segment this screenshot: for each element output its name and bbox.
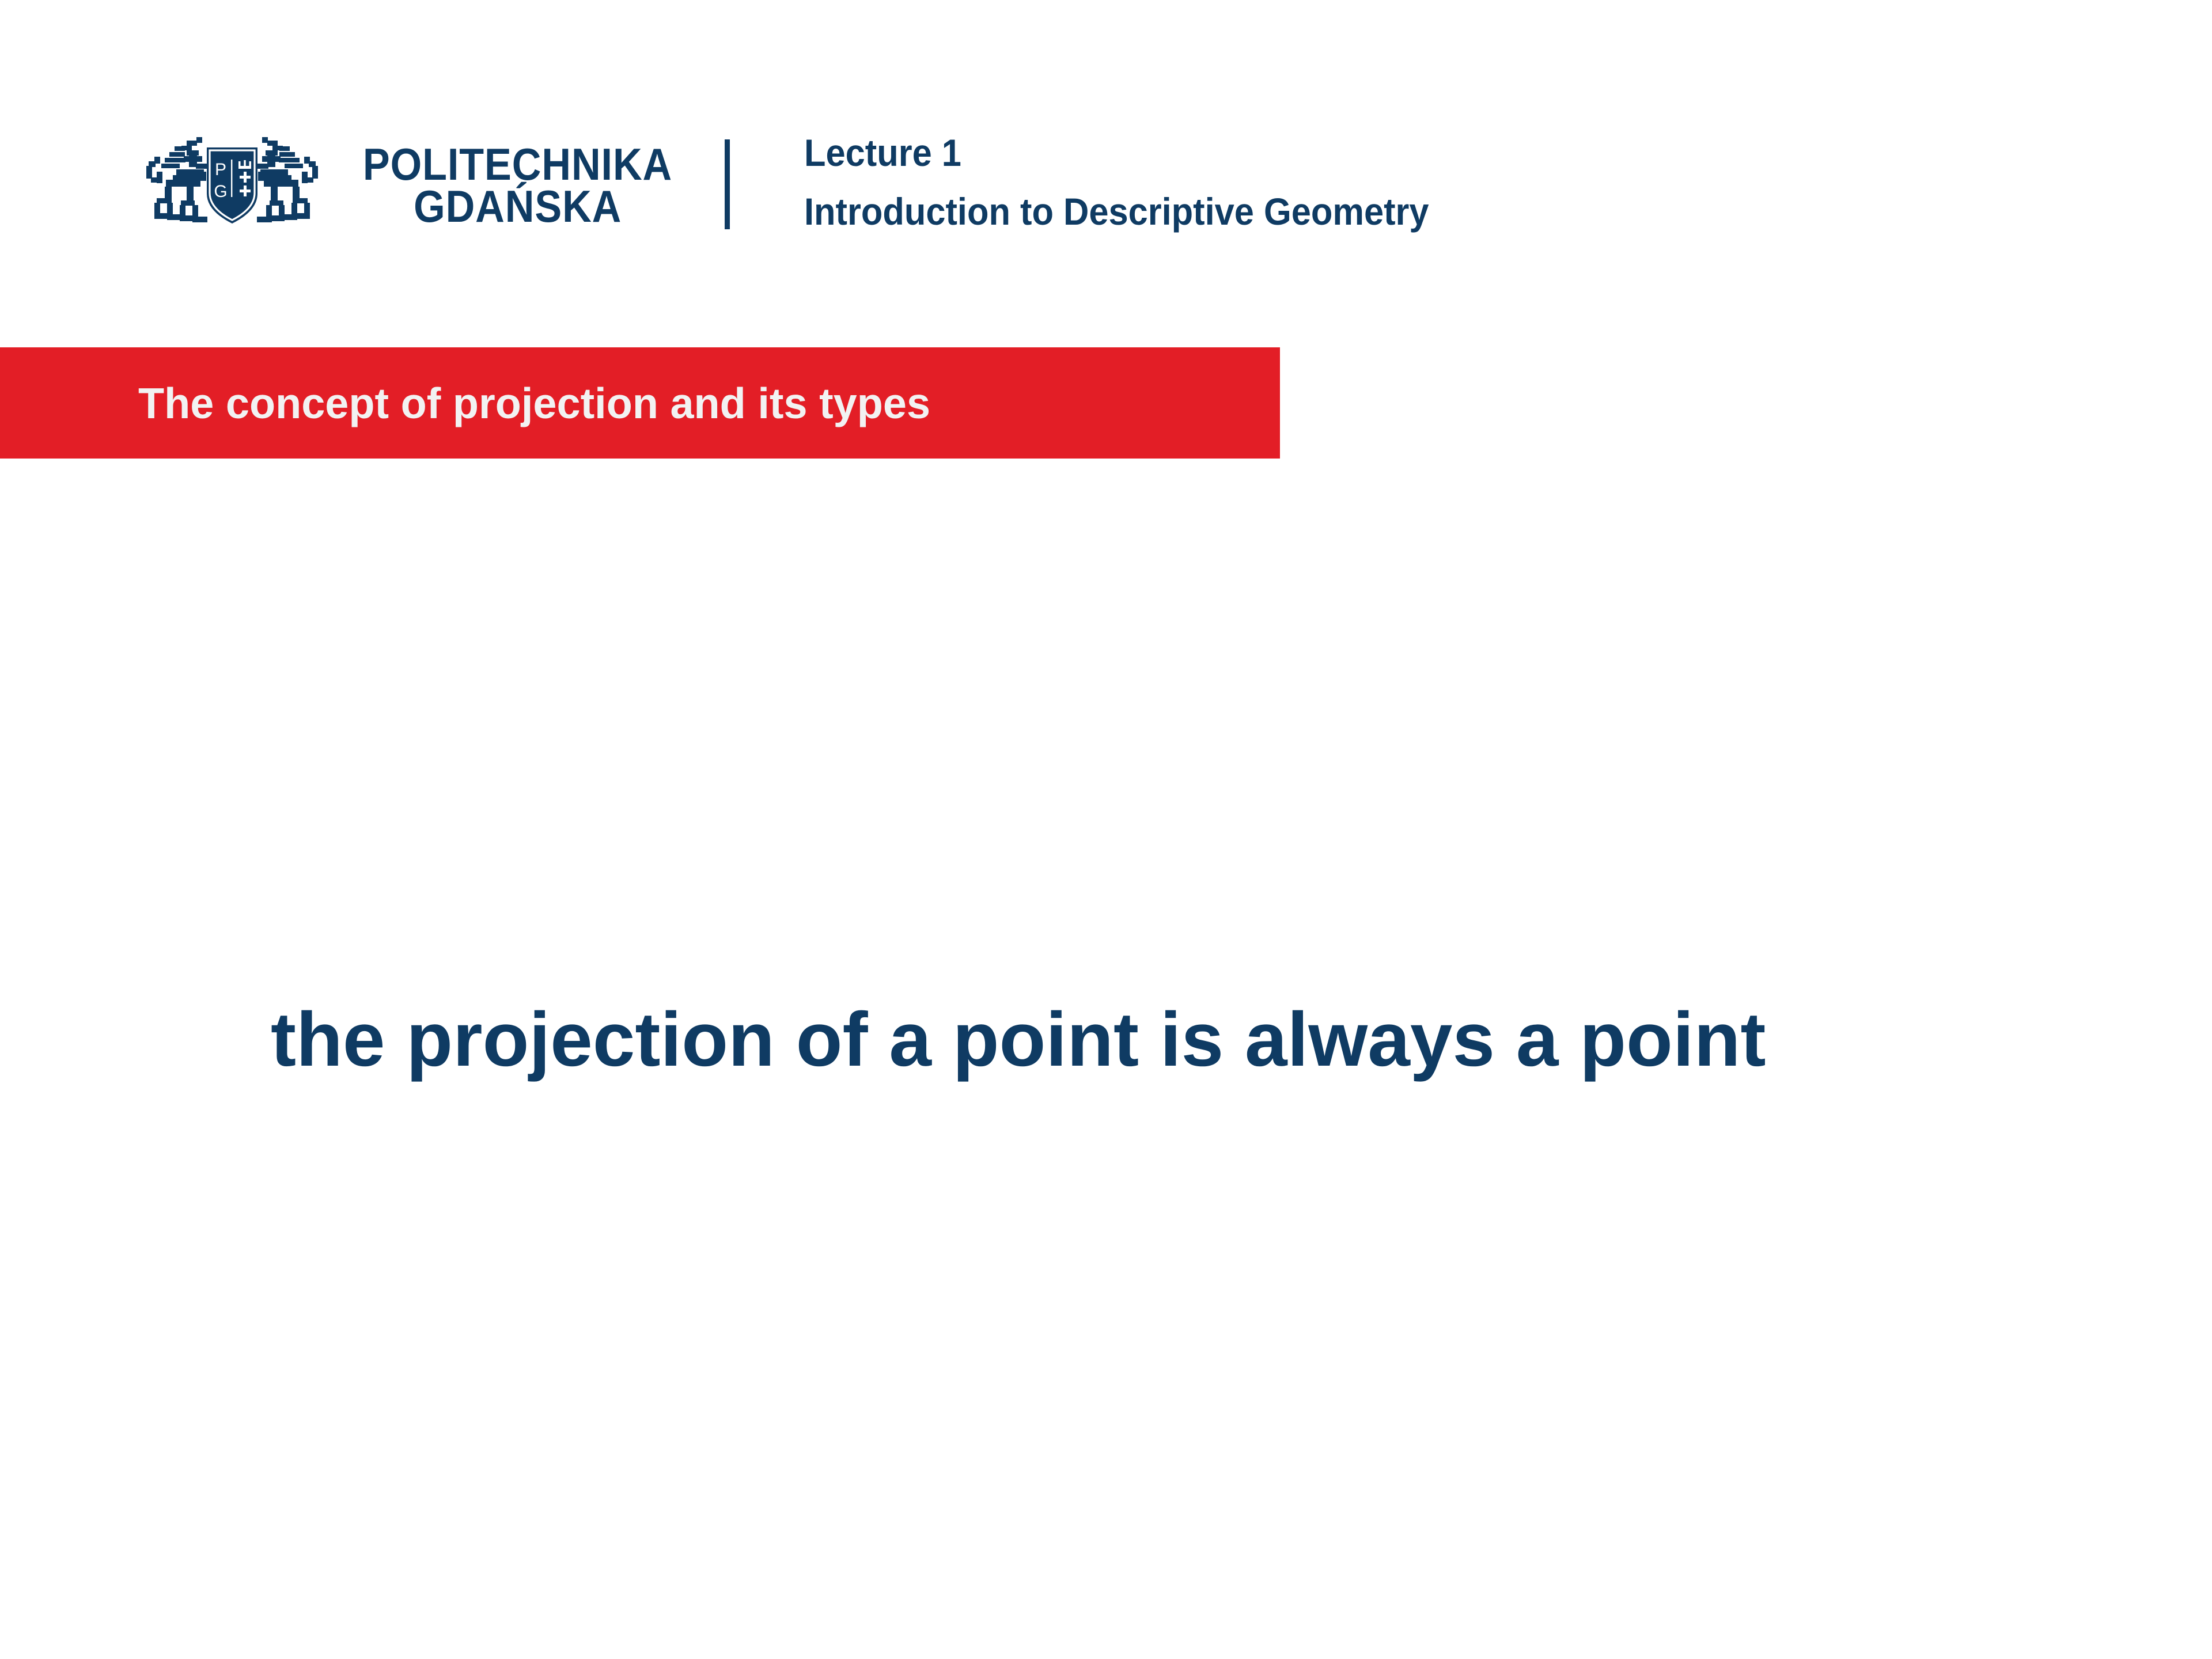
main-statement: the projection of a point is always a po… [271,997,1944,1083]
slide-body: the projection of a point is always a po… [0,490,2212,1659]
header-vertical-divider [725,139,730,229]
politechnika-gdanska-crest-icon: P G [131,134,333,237]
wordmark-line-gdanska: GDAŃSKA [414,185,622,228]
lecture-subject: Introduction to Descriptive Geometry [804,190,1929,233]
slide-canvas: P G POLITECHNIKA GDAŃSKA [0,0,2212,1659]
slide-header: P G POLITECHNIKA GDAŃSKA [0,0,2212,300]
lecture-number: Lecture 1 [804,131,1929,174]
lecture-heading: Lecture 1 Introduction to Descriptive Ge… [804,131,2014,233]
section-banner-title: The concept of projection and its types [138,380,930,427]
svg-text:G: G [214,182,227,201]
brand-lockup: P G POLITECHNIKA GDAŃSKA [131,134,690,237]
university-wordmark: POLITECHNIKA GDAŃSKA [346,143,690,228]
section-banner: The concept of projection and its types [0,347,1280,459]
svg-text:P: P [215,160,226,179]
wordmark-line-politechnika: POLITECHNIKA [363,143,672,185]
